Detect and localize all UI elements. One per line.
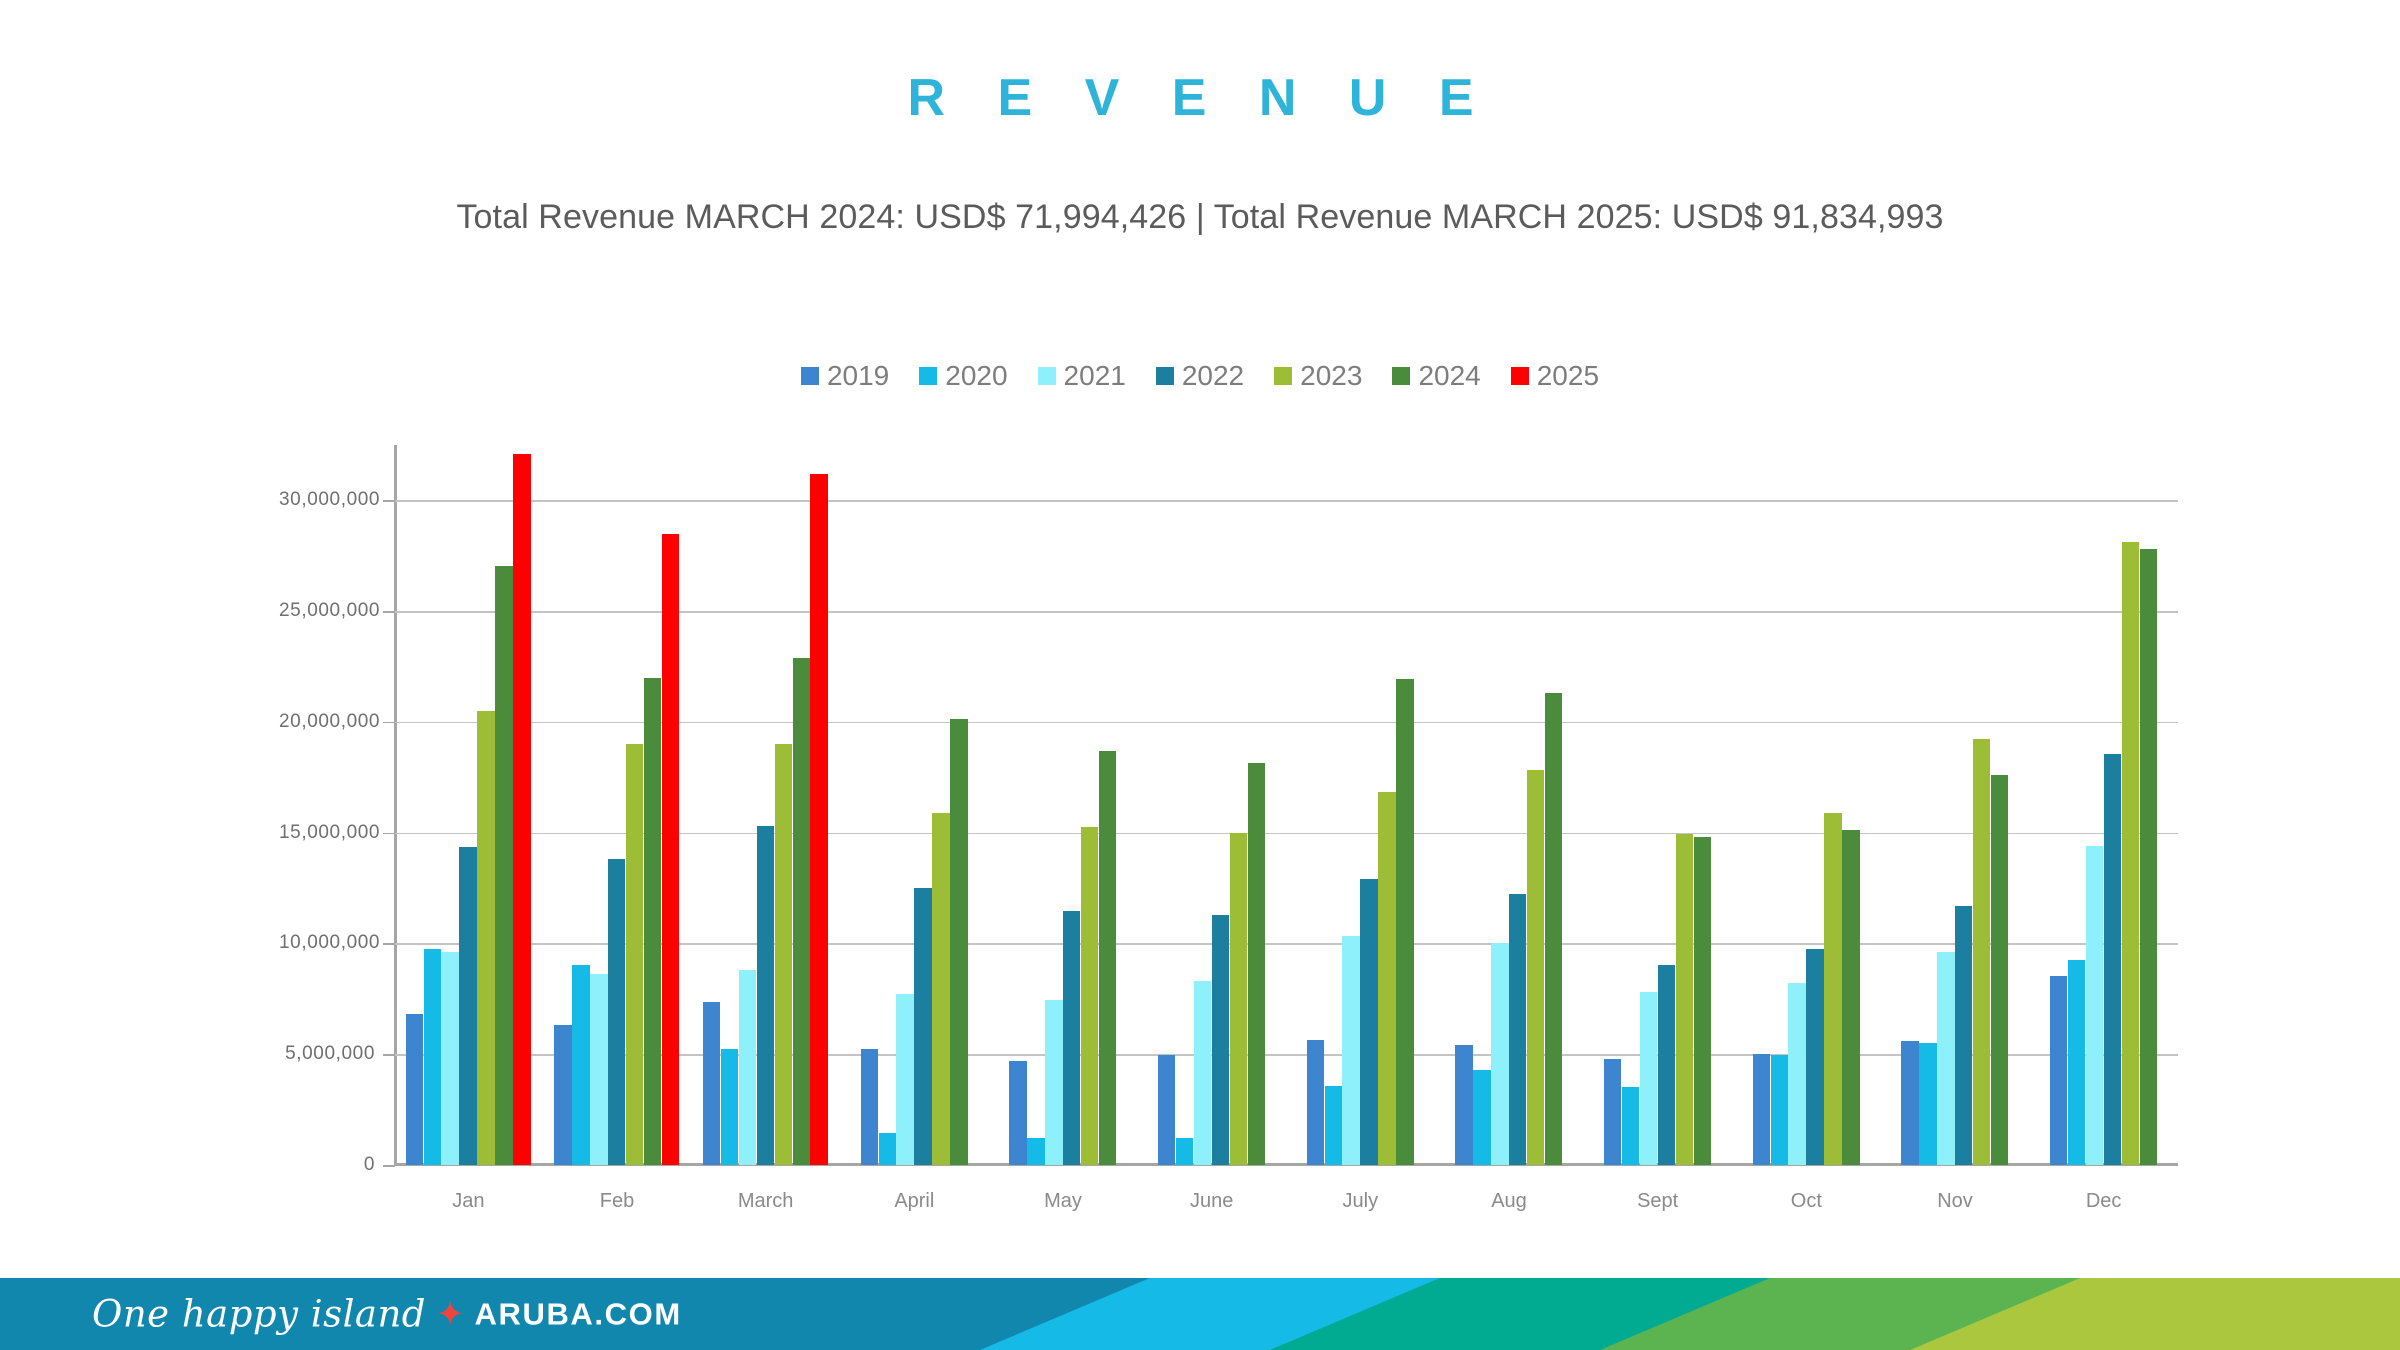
bar-feb-2020[interactable]	[572, 965, 589, 1165]
bar-july-2020[interactable]	[1325, 1086, 1342, 1165]
bar-nov-2019[interactable]	[1901, 1041, 1918, 1165]
bar-jan-2023[interactable]	[477, 711, 494, 1165]
y-axis-tick-label: 15,000,000	[279, 822, 375, 844]
bar-jan-2021[interactable]	[441, 952, 458, 1165]
bar-march-2024[interactable]	[793, 658, 810, 1165]
bar-april-2020[interactable]	[879, 1133, 896, 1165]
bar-aug-2023[interactable]	[1527, 770, 1544, 1165]
logo-tagline: One happy island	[92, 1293, 426, 1336]
legend-swatch-icon	[1392, 367, 1410, 385]
x-axis-tick-label: May	[1009, 1190, 1117, 1213]
bar-nov-2023[interactable]	[1973, 739, 1990, 1165]
bar-jan-2020[interactable]	[424, 949, 441, 1165]
bar-june-2019[interactable]	[1158, 1055, 1175, 1165]
bar-march-2021[interactable]	[739, 970, 756, 1165]
bar-group-july: July	[1307, 447, 1415, 1165]
bar-july-2023[interactable]	[1378, 792, 1395, 1165]
bar-june-2022[interactable]	[1212, 915, 1229, 1165]
bar-april-2024[interactable]	[950, 719, 967, 1165]
bar-april-2022[interactable]	[914, 888, 931, 1165]
x-axis-tick-label: Aug	[1455, 1190, 1563, 1213]
legend-item-2020[interactable]: 2020	[919, 360, 1007, 392]
legend-item-2024[interactable]: 2024	[1392, 360, 1480, 392]
bar-april-2023[interactable]	[932, 813, 949, 1165]
legend-item-label: 2025	[1537, 360, 1599, 392]
y-axis-tick-label: 30,000,000	[279, 489, 375, 511]
legend-swatch-icon	[801, 367, 819, 385]
bar-dec-2022[interactable]	[2104, 754, 2121, 1165]
bar-jan-2019[interactable]	[406, 1014, 423, 1165]
legend-item-2019[interactable]: 2019	[801, 360, 889, 392]
bar-dec-2021[interactable]	[2086, 846, 2103, 1165]
bar-group-sept: Sept	[1604, 447, 1712, 1165]
y-axis-tick-mark	[383, 1165, 395, 1167]
x-axis-tick-label: Dec	[2050, 1190, 2158, 1213]
bar-dec-2019[interactable]	[2050, 976, 2067, 1165]
legend-swatch-icon	[1274, 367, 1292, 385]
bar-nov-2022[interactable]	[1955, 906, 1972, 1165]
bar-feb-2019[interactable]	[554, 1025, 571, 1165]
bar-aug-2019[interactable]	[1455, 1045, 1472, 1165]
chart-legend: 2019202020212022202320242025	[0, 360, 2400, 392]
y-axis-tick-label: 5,000,000	[279, 1043, 375, 1065]
bar-june-2021[interactable]	[1194, 981, 1211, 1165]
legend-item-label: 2021	[1064, 360, 1126, 392]
legend-item-label: 2020	[945, 360, 1007, 392]
bar-july-2024[interactable]	[1396, 679, 1413, 1165]
bar-feb-2022[interactable]	[608, 859, 625, 1165]
revenue-summary-subtitle: Total Revenue MARCH 2024: USD$ 71,994,42…	[0, 198, 2400, 237]
bar-june-2020[interactable]	[1176, 1138, 1193, 1165]
y-axis-tick-label: 20,000,000	[279, 711, 375, 733]
legend-item-2022[interactable]: 2022	[1156, 360, 1244, 392]
bar-sept-2021[interactable]	[1640, 992, 1657, 1165]
legend-item-2025[interactable]: 2025	[1511, 360, 1599, 392]
bar-may-2020[interactable]	[1027, 1138, 1044, 1165]
bar-group-jan: Jan	[406, 447, 532, 1165]
y-axis-tick-label: 25,000,000	[279, 600, 375, 622]
bar-aug-2021[interactable]	[1491, 943, 1508, 1165]
bar-march-2019[interactable]	[703, 1002, 720, 1165]
bar-group-june: June	[1158, 447, 1266, 1165]
bar-nov-2021[interactable]	[1937, 952, 1954, 1165]
logo-wordmark: ARUBA.COM	[474, 1296, 681, 1332]
legend-item-2021[interactable]: 2021	[1038, 360, 1126, 392]
bar-april-2019[interactable]	[861, 1049, 878, 1165]
legend-item-2023[interactable]: 2023	[1274, 360, 1362, 392]
bar-sept-2022[interactable]	[1658, 965, 1675, 1165]
x-axis-tick-label: Nov	[1901, 1190, 2009, 1213]
bar-group-feb: Feb	[554, 447, 680, 1165]
bar-dec-2023[interactable]	[2122, 542, 2139, 1165]
bar-oct-2022[interactable]	[1806, 949, 1823, 1165]
page-title: R E V E N U E	[0, 68, 2400, 128]
bar-group-may: May	[1009, 447, 1117, 1165]
bar-aug-2024[interactable]	[1545, 693, 1562, 1165]
bar-group-oct: Oct	[1753, 447, 1861, 1165]
bar-june-2024[interactable]	[1248, 763, 1265, 1165]
bar-oct-2019[interactable]	[1753, 1054, 1770, 1165]
x-axis-tick-label: March	[703, 1190, 829, 1213]
bar-march-2023[interactable]	[775, 744, 792, 1165]
bar-july-2022[interactable]	[1360, 879, 1377, 1165]
x-axis-tick-label: April	[861, 1190, 969, 1213]
footer-bar: One happy island ✦ ARUBA.COM	[0, 1278, 2400, 1350]
bar-group-april: April	[861, 447, 969, 1165]
revenue-bar-chart: 05,000,00010,000,00015,000,00020,000,000…	[283, 445, 2183, 1220]
bar-may-2021[interactable]	[1045, 1000, 1062, 1165]
bar-aug-2022[interactable]	[1509, 894, 1526, 1165]
bar-dec-2020[interactable]	[2068, 960, 2085, 1165]
legend-item-label: 2022	[1182, 360, 1244, 392]
bar-oct-2024[interactable]	[1842, 830, 1859, 1165]
chart-plot-area: JanFebMarchAprilMayJuneJulyAugSeptOctNov…	[394, 445, 2178, 1165]
legend-item-label: 2019	[827, 360, 889, 392]
bar-nov-2024[interactable]	[1991, 775, 2008, 1165]
bar-feb-2021[interactable]	[590, 974, 607, 1165]
bar-group-nov: Nov	[1901, 447, 2009, 1165]
bar-aug-2020[interactable]	[1473, 1070, 1490, 1165]
bar-sept-2024[interactable]	[1694, 837, 1711, 1165]
bar-march-2022[interactable]	[757, 826, 774, 1165]
x-axis-tick-label: Feb	[554, 1190, 680, 1213]
legend-swatch-icon	[1038, 367, 1056, 385]
y-axis-tick-label: 10,000,000	[279, 932, 375, 954]
bar-may-2019[interactable]	[1009, 1061, 1026, 1165]
bar-april-2021[interactable]	[896, 994, 913, 1165]
bar-feb-2025[interactable]	[662, 534, 679, 1165]
bar-feb-2023[interactable]	[626, 744, 643, 1165]
legend-swatch-icon	[1511, 367, 1529, 385]
bar-may-2023[interactable]	[1081, 827, 1098, 1165]
aruba-logo: One happy island ✦ ARUBA.COM	[92, 1293, 682, 1336]
bar-july-2021[interactable]	[1342, 936, 1359, 1165]
bar-dec-2024[interactable]	[2140, 549, 2157, 1165]
x-axis-tick-label: July	[1307, 1190, 1415, 1213]
x-axis-tick-label: Sept	[1604, 1190, 1712, 1213]
x-axis-tick-label: June	[1158, 1190, 1266, 1213]
y-axis-tick-label: 0	[279, 1154, 375, 1176]
bar-june-2023[interactable]	[1230, 833, 1247, 1165]
bar-july-2019[interactable]	[1307, 1040, 1324, 1165]
bar-march-2025[interactable]	[810, 474, 827, 1165]
bar-jan-2022[interactable]	[459, 847, 476, 1165]
bar-oct-2021[interactable]	[1788, 983, 1805, 1165]
bar-oct-2020[interactable]	[1771, 1055, 1788, 1165]
bar-jan-2024[interactable]	[495, 566, 512, 1165]
legend-swatch-icon	[919, 367, 937, 385]
bar-group-march: March	[703, 447, 829, 1165]
bar-feb-2024[interactable]	[644, 678, 661, 1165]
bar-may-2022[interactable]	[1063, 911, 1080, 1165]
bar-oct-2023[interactable]	[1824, 813, 1841, 1165]
revenue-slide: R E V E N U E Total Revenue MARCH 2024: …	[0, 0, 2400, 1350]
x-axis-tick-label: Oct	[1753, 1190, 1861, 1213]
bar-group-dec: Dec	[2050, 447, 2158, 1165]
x-axis-tick-label: Jan	[406, 1190, 532, 1213]
bar-sept-2019[interactable]	[1604, 1059, 1621, 1165]
bar-sept-2020[interactable]	[1622, 1087, 1639, 1165]
bar-nov-2020[interactable]	[1919, 1043, 1936, 1165]
bar-group-aug: Aug	[1455, 447, 1563, 1165]
legend-item-label: 2024	[1418, 360, 1480, 392]
bar-may-2024[interactable]	[1099, 751, 1116, 1165]
legend-swatch-icon	[1156, 367, 1174, 385]
bar-jan-2025[interactable]	[513, 454, 530, 1165]
star-icon: ✦	[436, 1297, 465, 1331]
bar-sept-2023[interactable]	[1676, 834, 1693, 1165]
bar-march-2020[interactable]	[721, 1049, 738, 1165]
legend-item-label: 2023	[1300, 360, 1362, 392]
